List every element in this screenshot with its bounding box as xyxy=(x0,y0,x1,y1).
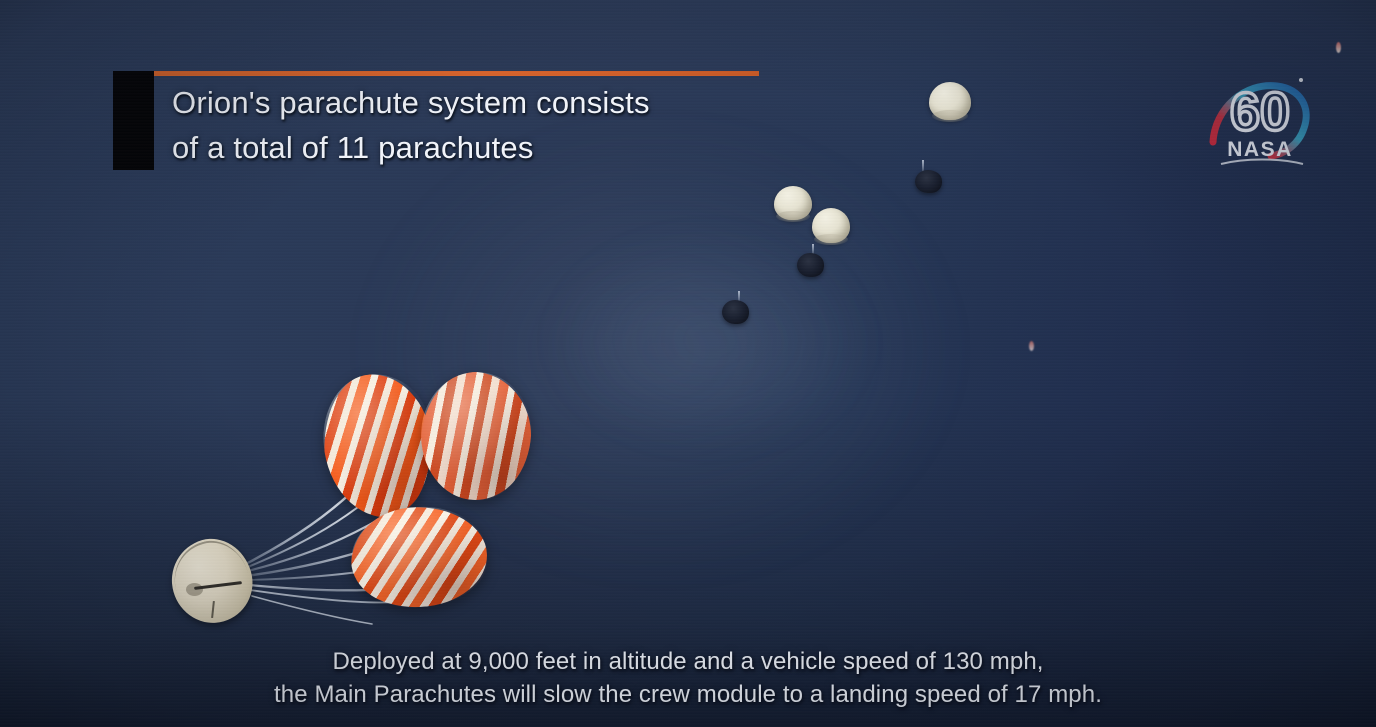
jettisoned-object-lower xyxy=(722,300,749,324)
drogue-chute-left xyxy=(774,186,812,220)
debris-speck-mid-right xyxy=(1029,341,1034,351)
title-accent-block xyxy=(113,71,154,170)
caption-line-1: Deployed at 9,000 feet in altitude and a… xyxy=(0,645,1376,678)
logo-number: 60 xyxy=(1230,82,1290,142)
logo-wordmark: NASA xyxy=(1227,138,1293,161)
title-lines: Orion's parachute system consists of a t… xyxy=(172,71,650,170)
crew-module xyxy=(172,539,252,623)
caption-line-2: the Main Parachutes will slow the crew m… xyxy=(0,678,1376,711)
title-card: Orion's parachute system consists of a t… xyxy=(113,71,650,170)
video-frame: Orion's parachute system consists of a t… xyxy=(0,0,1376,727)
title-text-area: Orion's parachute system consists of a t… xyxy=(154,71,650,170)
jettisoned-object-mid xyxy=(797,253,824,277)
drogue-chute-mid xyxy=(812,208,850,243)
drogue-chute-top xyxy=(929,82,971,120)
caption-block: Deployed at 9,000 feet in altitude and a… xyxy=(0,645,1376,711)
jettisoned-object-upper xyxy=(915,170,942,193)
title-accent-rule xyxy=(154,71,759,76)
title-line-2: of a total of 11 parachutes xyxy=(172,125,650,170)
logo-star xyxy=(1299,78,1303,82)
title-line-1: Orion's parachute system consists xyxy=(172,80,650,125)
nasa-60th-anniversary-logo: 60 NASA xyxy=(1205,68,1315,173)
debris-speck-upper-right xyxy=(1336,42,1341,53)
